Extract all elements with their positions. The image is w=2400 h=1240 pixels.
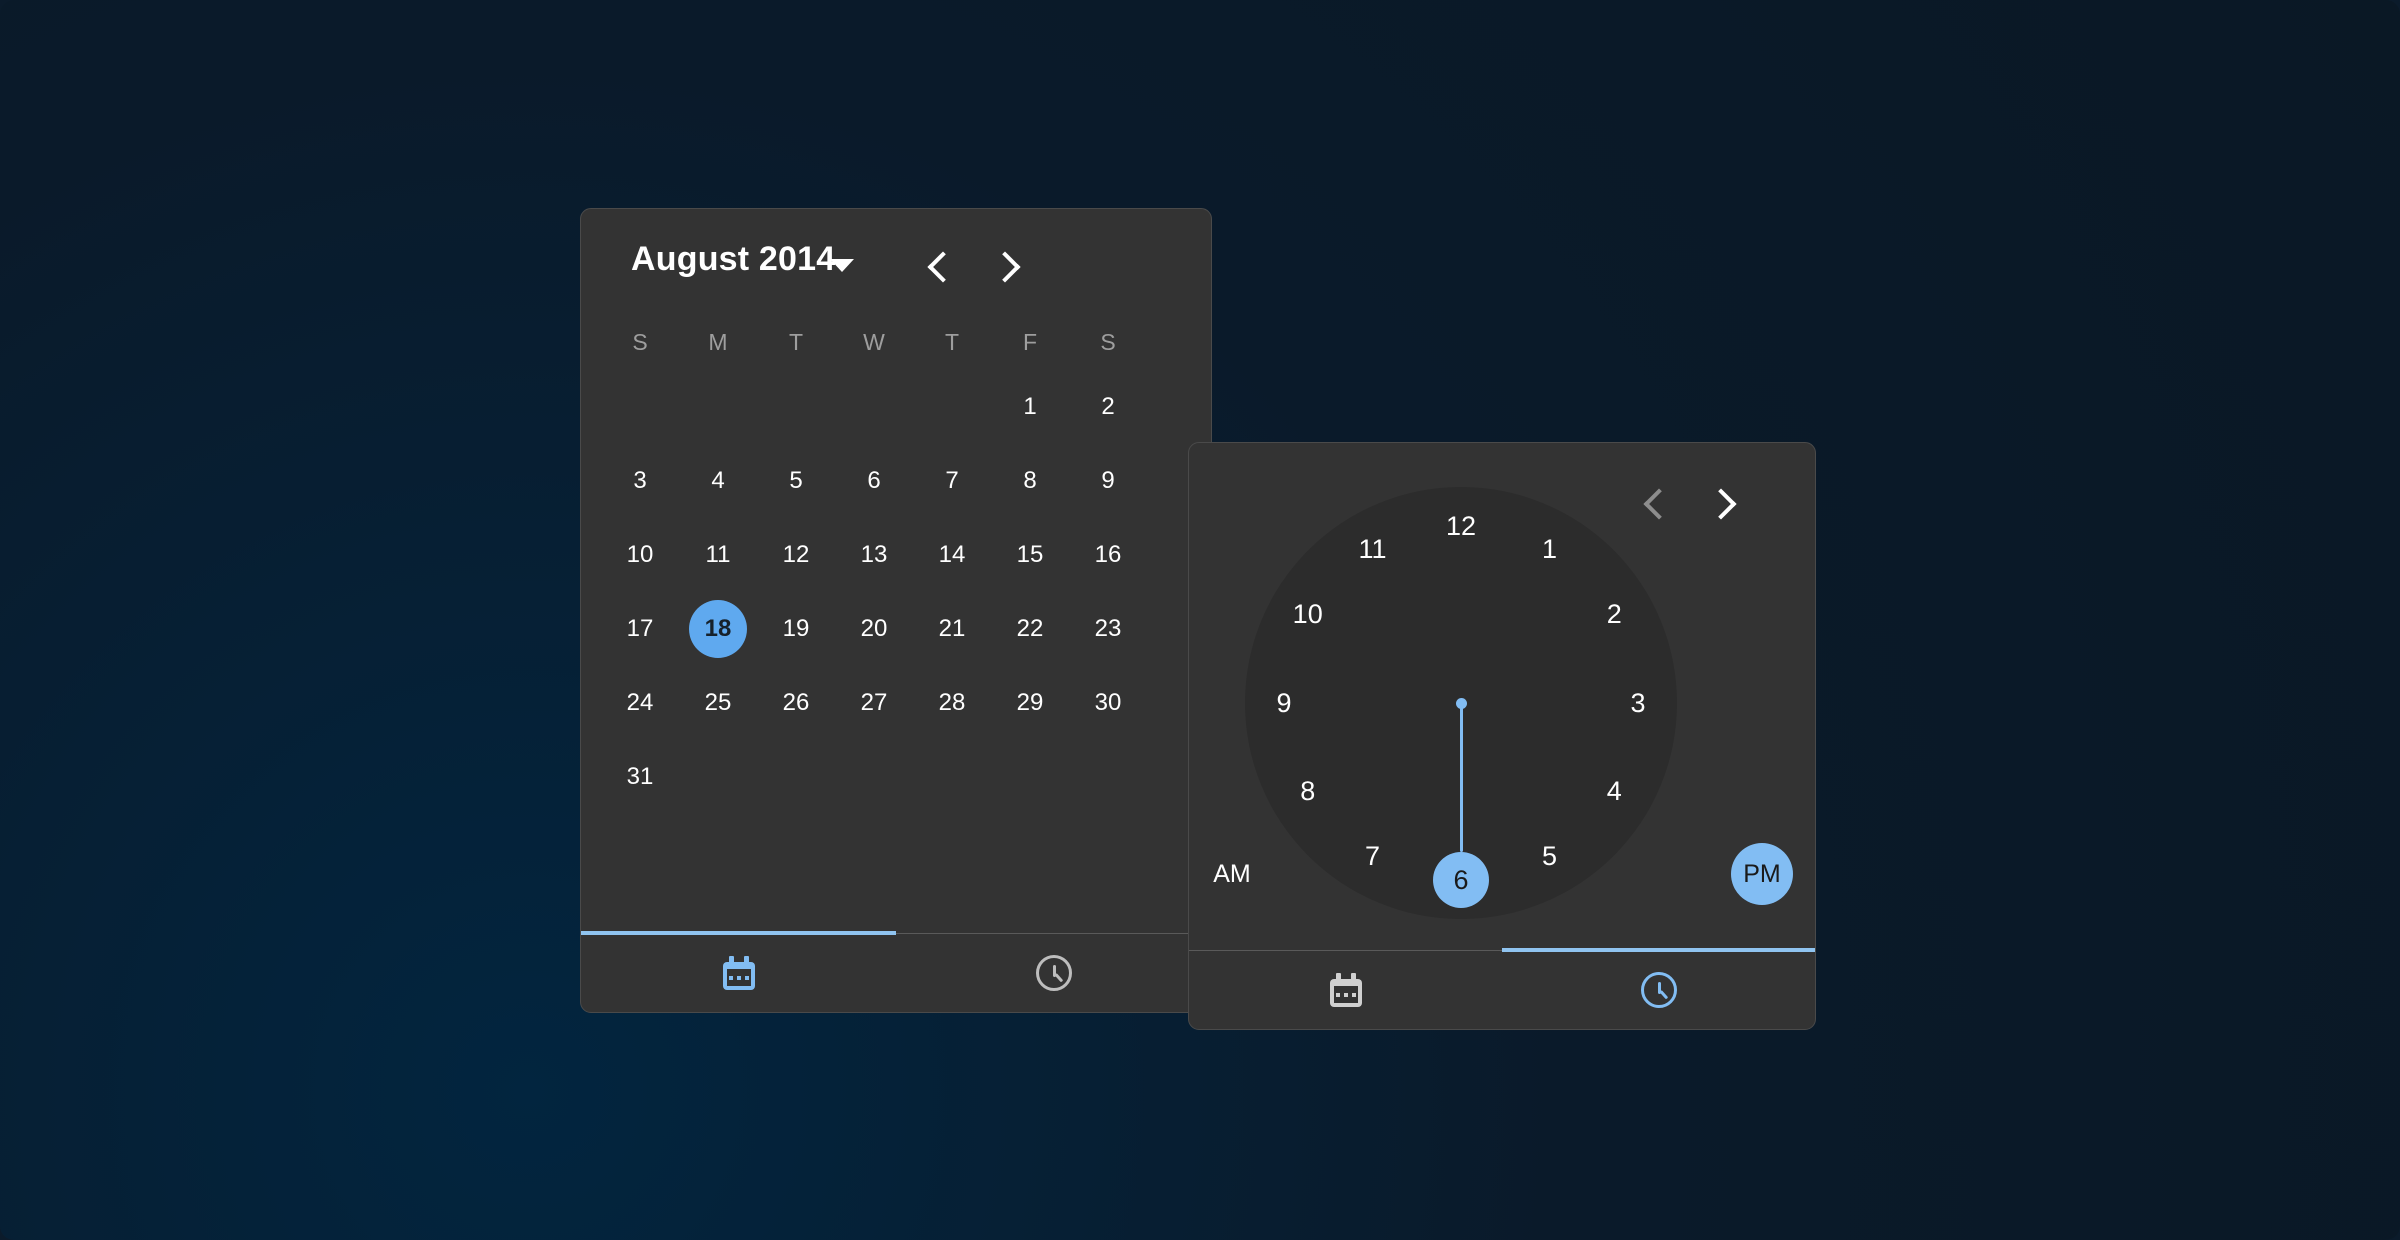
calendar-week-row: 12 [601,370,1193,444]
calendar-cell-empty [679,740,757,814]
calendar-day-label: 16 [1079,526,1137,584]
day-header-sat: S [1069,314,1147,370]
calendar-day-cell[interactable]: 29 [991,666,1069,740]
calendar-day-label: 8 [1001,452,1059,510]
calendar-cell-empty [757,370,835,444]
clock-dial[interactable]: 121234567891011 [1245,487,1677,919]
clock-hour-10[interactable]: 10 [1280,587,1336,643]
calendar-day-label: 31 [611,748,669,806]
calendar-week-row: 31 [601,740,1193,814]
time-prev-button[interactable] [1637,487,1671,521]
calendar-day-label: 11 [689,526,747,584]
clock-hour-3[interactable]: 3 [1610,675,1666,731]
calendar-day-blank [845,378,903,436]
calendar-week-row: 3456789 [601,444,1193,518]
day-header-wed: W [835,314,913,370]
clock-hour-12[interactable]: 12 [1433,498,1489,554]
day-header-tue: T [757,314,835,370]
calendar-day-label: 29 [1001,674,1059,732]
calendar-day-blank [767,378,825,436]
day-header-fri: F [991,314,1069,370]
calendar-cell-empty [757,740,835,814]
clock-hand [1460,703,1463,852]
calendar-day-label: 30 [1079,674,1137,732]
day-header-sun: S [601,314,679,370]
calendar-day-label: 28 [923,674,981,732]
calendar-weeks: 1234567891011121314151617181920212223242… [601,370,1193,814]
calendar-header: August 2014 [581,209,1211,321]
calendar-day-label: 27 [845,674,903,732]
calendar-day-cell[interactable]: 26 [757,666,835,740]
date-picker-panel: August 2014 S M T W T F S 12345678910111… [580,208,1212,1013]
clock-hour-11[interactable]: 11 [1345,522,1401,578]
clock-hour-9[interactable]: 9 [1256,675,1312,731]
clock-hour-7[interactable]: 7 [1345,828,1401,884]
calendar-day-cell[interactable]: 23 [1069,592,1147,666]
calendar-cell-empty [601,370,679,444]
calendar-day-label: 5 [767,452,825,510]
calendar-day-label: 22 [1001,600,1059,658]
clock-hour-2[interactable]: 2 [1586,587,1642,643]
calendar-day-cell[interactable]: 19 [757,592,835,666]
calendar-day-blank [845,748,903,806]
calendar-day-blank [1079,748,1137,806]
calendar-day-label: 1 [1001,378,1059,436]
clock-hour-4[interactable]: 4 [1586,764,1642,820]
clock-hour-5[interactable]: 5 [1522,828,1578,884]
calendar-day-cell[interactable]: 18 [679,592,757,666]
day-header-mon: M [679,314,757,370]
calendar-grid: S M T W T F S 12345678910111213141516171… [601,314,1193,814]
calendar-day-cell[interactable]: 27 [835,666,913,740]
clock-hour-6[interactable]: 6 [1433,852,1489,908]
clock-hour-1[interactable]: 1 [1522,522,1578,578]
calendar-day-label: 14 [923,526,981,584]
tab-date[interactable] [581,934,896,1012]
calendar-day-label: 7 [923,452,981,510]
tab-date[interactable] [1189,951,1502,1029]
calendar-icon [723,956,755,990]
date-panel-tabbar [581,933,1211,1012]
calendar-day-blank [923,748,981,806]
calendar-day-label: 4 [689,452,747,510]
calendar-cell-empty [991,740,1069,814]
tab-time[interactable] [1502,951,1815,1029]
calendar-day-cell[interactable]: 12 [757,518,835,592]
calendar-day-cell[interactable]: 3 [601,444,679,518]
calendar-day-cell[interactable]: 17 [601,592,679,666]
calendar-cell-empty [913,370,991,444]
calendar-day-label: 26 [767,674,825,732]
day-header-thu: T [913,314,991,370]
calendar-day-blank [767,748,825,806]
calendar-prev-month-button[interactable] [921,250,955,284]
calendar-day-cell[interactable]: 9 [1069,444,1147,518]
calendar-day-cell[interactable]: 1 [991,370,1069,444]
clock-icon [1641,972,1677,1008]
calendar-day-cell[interactable]: 15 [991,518,1069,592]
calendar-day-cell[interactable]: 25 [679,666,757,740]
calendar-day-label: 9 [1079,452,1137,510]
calendar-month-year-label[interactable]: August 2014 [631,240,835,279]
calendar-day-cell[interactable]: 5 [757,444,835,518]
calendar-cell-empty [1069,740,1147,814]
chevron-down-icon[interactable] [830,259,854,272]
time-picker-panel: 121234567891011 AM PM [1188,442,1816,1030]
calendar-day-label: 18 [689,600,747,658]
calendar-day-label: 20 [845,600,903,658]
calendar-day-label: 10 [611,526,669,584]
calendar-cell-empty [679,370,757,444]
calendar-day-label: 15 [1001,526,1059,584]
calendar-day-cell[interactable]: 13 [835,518,913,592]
calendar-week-row: 24252627282930 [601,666,1193,740]
calendar-day-cell[interactable]: 22 [991,592,1069,666]
calendar-day-cell[interactable]: 4 [679,444,757,518]
calendar-day-cell[interactable]: 2 [1069,370,1147,444]
time-next-button[interactable] [1705,487,1739,521]
calendar-day-blank [923,378,981,436]
calendar-day-label: 21 [923,600,981,658]
calendar-day-label: 17 [611,600,669,658]
clock-icon [1036,955,1072,991]
calendar-day-cell[interactable]: 16 [1069,518,1147,592]
calendar-day-cell[interactable]: 21 [913,592,991,666]
tab-time[interactable] [896,934,1211,1012]
calendar-icon [1330,973,1362,1007]
calendar-day-label: 6 [845,452,903,510]
calendar-day-label: 24 [611,674,669,732]
calendar-week-row: 10111213141516 [601,518,1193,592]
clock-hour-8[interactable]: 8 [1280,764,1336,820]
calendar-day-cell[interactable]: 31 [601,740,679,814]
calendar-day-label: 2 [1079,378,1137,436]
calendar-day-label: 25 [689,674,747,732]
am-button[interactable]: AM [1201,843,1263,905]
calendar-day-cell[interactable]: 10 [601,518,679,592]
calendar-day-cell[interactable]: 7 [913,444,991,518]
calendar-day-cell[interactable]: 11 [679,518,757,592]
calendar-day-label: 12 [767,526,825,584]
pm-button[interactable]: PM [1731,843,1793,905]
calendar-day-cell[interactable]: 20 [835,592,913,666]
calendar-day-cell[interactable]: 8 [991,444,1069,518]
calendar-cell-empty [913,740,991,814]
calendar-cell-empty [835,740,913,814]
calendar-day-label: 19 [767,600,825,658]
calendar-day-label: 13 [845,526,903,584]
calendar-day-label: 23 [1079,600,1137,658]
calendar-day-cell[interactable]: 28 [913,666,991,740]
calendar-day-cell[interactable]: 14 [913,518,991,592]
calendar-day-cell[interactable]: 24 [601,666,679,740]
calendar-week-row: 17181920212223 [601,592,1193,666]
calendar-day-header-row: S M T W T F S [601,314,1193,370]
calendar-day-blank [689,748,747,806]
calendar-day-blank [689,378,747,436]
calendar-day-label: 3 [611,452,669,510]
calendar-day-blank [1001,748,1059,806]
calendar-cell-empty [835,370,913,444]
time-panel-tabbar [1189,950,1815,1029]
calendar-day-blank [611,378,669,436]
calendar-next-month-button[interactable] [989,250,1023,284]
calendar-day-cell[interactable]: 6 [835,444,913,518]
calendar-day-cell[interactable]: 30 [1069,666,1147,740]
